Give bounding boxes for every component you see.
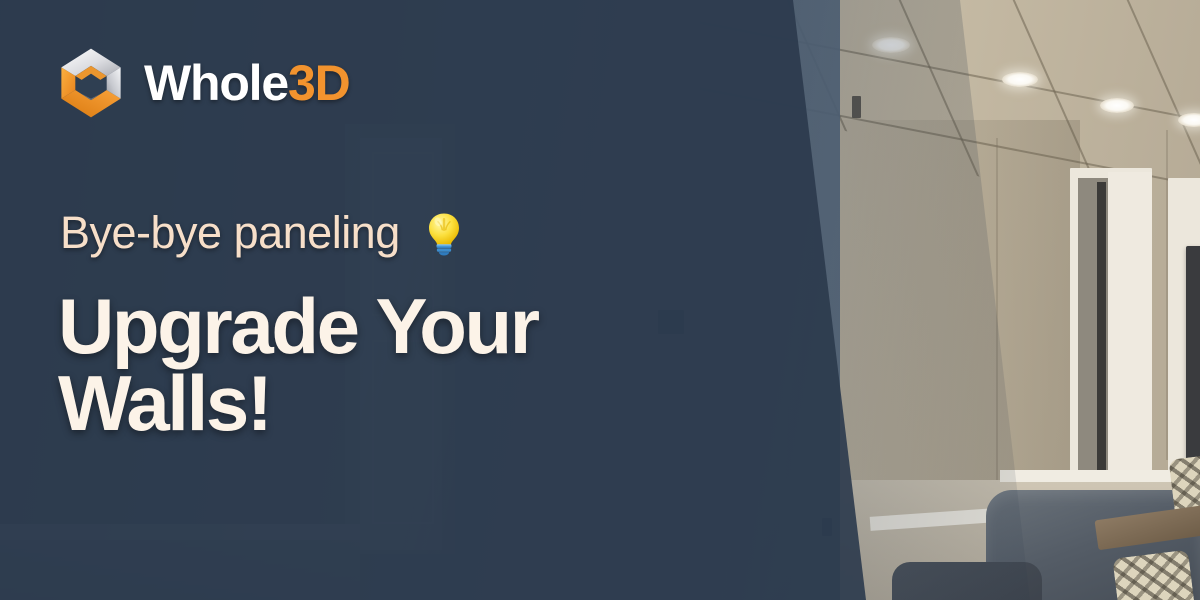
page-title: Upgrade Your Walls! [58, 288, 538, 442]
banner-content: Whole3D Bye-bye paneling [0, 0, 1200, 600]
brand-wordmark: Whole3D [144, 58, 350, 108]
brand-name-3d: 3D [288, 55, 350, 111]
promo-banner: Whole3D Bye-bye paneling [0, 0, 1200, 600]
headline-line-1: Upgrade Your [58, 282, 538, 370]
kicker-text: Bye-bye paneling [60, 207, 400, 259]
banner-kicker: Bye-bye paneling [60, 207, 468, 259]
whole3d-cube-logo-icon [52, 44, 130, 122]
headline-line-2: Walls! [58, 365, 538, 442]
brand-name-whole: Whole [144, 55, 288, 111]
brand-logo[interactable]: Whole3D [52, 44, 350, 122]
light-bulb-emoji [420, 209, 468, 257]
